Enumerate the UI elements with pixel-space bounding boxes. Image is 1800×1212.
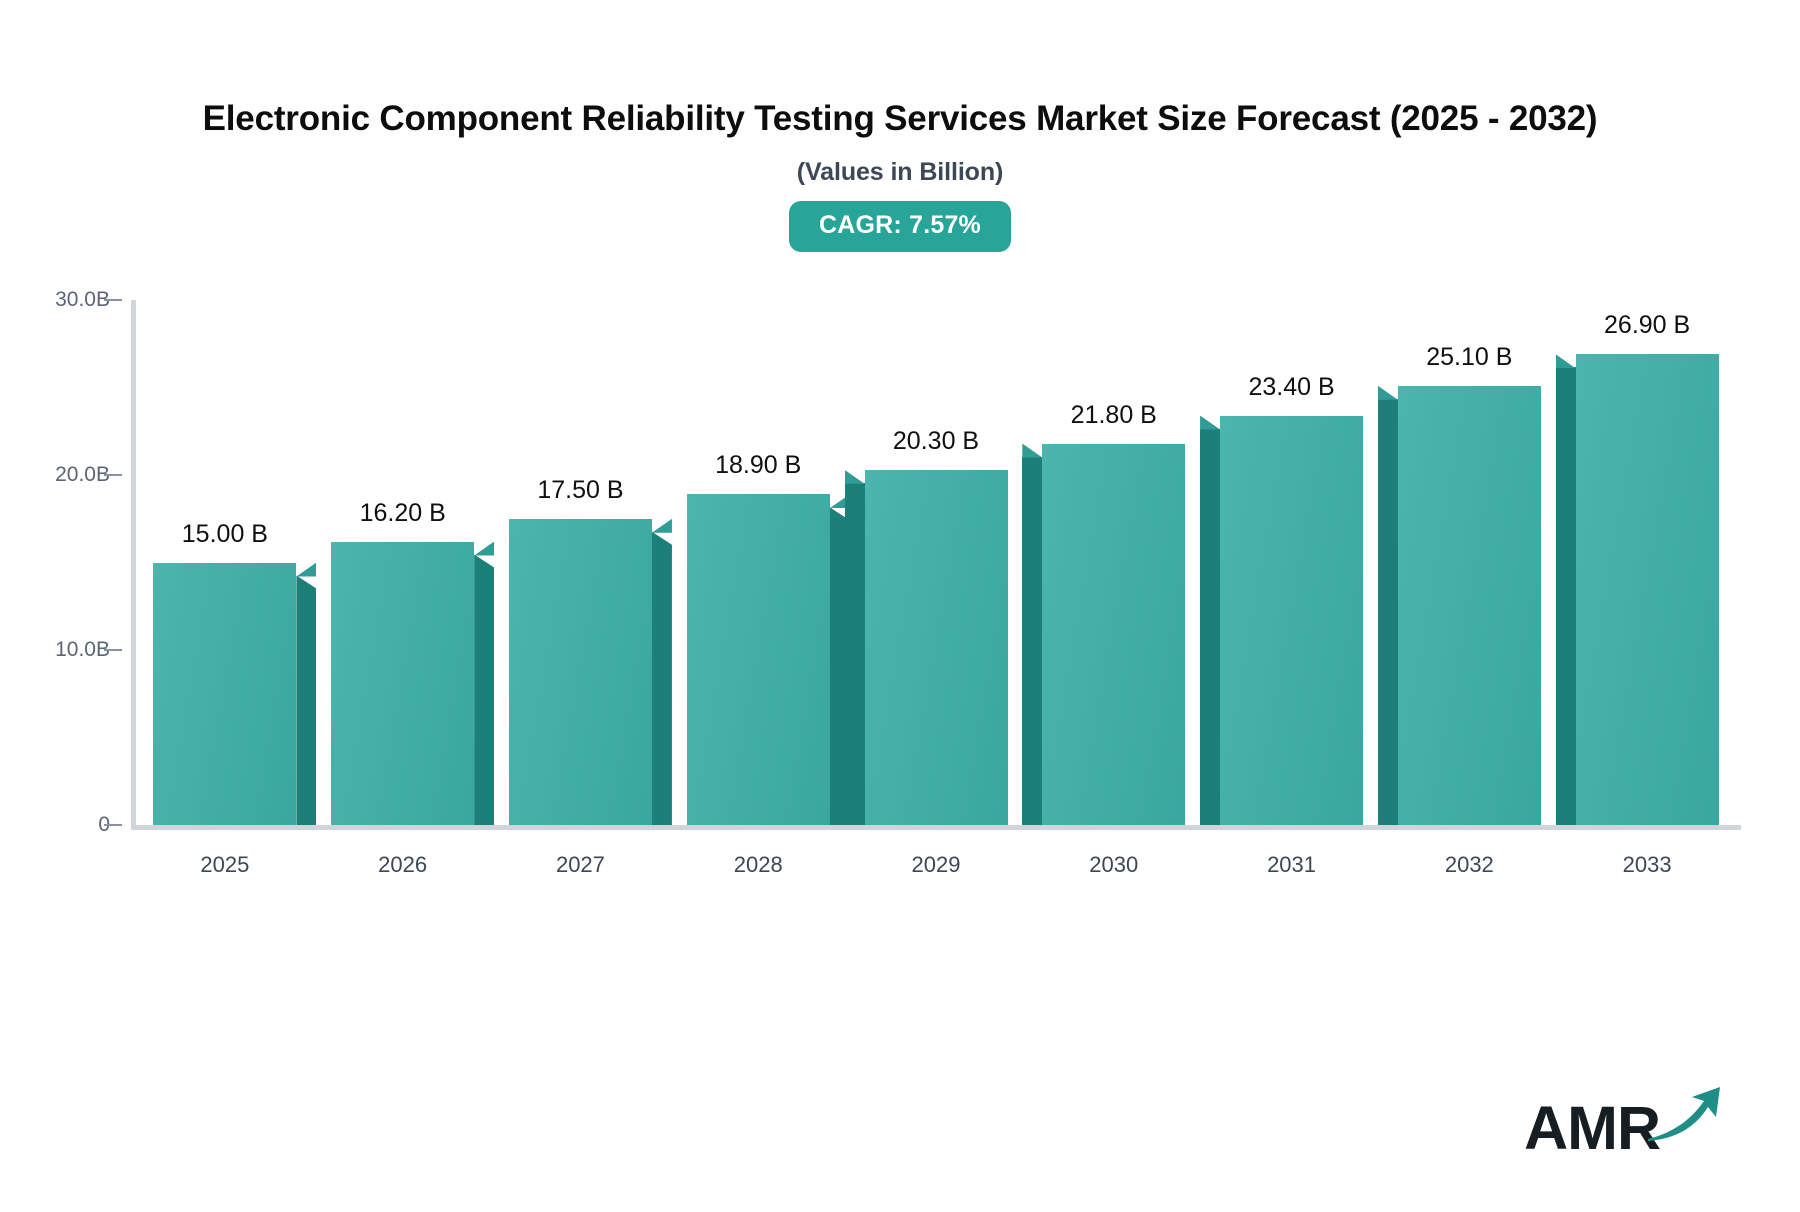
bar-front-face — [1220, 416, 1363, 826]
x-axis-tick-label: 2027 — [556, 852, 605, 878]
chart-header: Electronic Component Reliability Testing… — [150, 96, 1650, 252]
bar-side-face — [652, 532, 672, 825]
bar-group[interactable]: 17.50 B — [509, 300, 652, 825]
x-axis-tick-label: 2029 — [912, 852, 961, 878]
logo-text: AMR — [1524, 1100, 1660, 1156]
plot-area: 010.0B20.0B30.0B 15.00 B16.20 B17.50 B18… — [0, 300, 1800, 900]
bar-side-face — [1556, 367, 1576, 825]
bar-value-label: 15.00 B — [182, 520, 268, 549]
x-axis-tick-label: 2028 — [734, 852, 783, 878]
bar[interactable] — [1576, 354, 1719, 825]
bar-front-face — [153, 563, 296, 826]
bar-value-label: 21.80 B — [1071, 401, 1157, 430]
y-axis-tick-label: 10.0B — [0, 638, 110, 662]
bar-group[interactable]: 15.00 B — [153, 300, 296, 825]
bar-value-label: 16.20 B — [360, 499, 446, 528]
bar-side-face — [1378, 399, 1398, 825]
bar-front-face — [331, 542, 474, 826]
bar-top-face — [652, 519, 672, 533]
x-axis-tick-label: 2026 — [378, 852, 427, 878]
bar[interactable] — [1220, 416, 1363, 826]
bar-front-face — [865, 470, 1008, 825]
bar-group[interactable]: 21.80 B — [1042, 300, 1185, 825]
chart-subtitle: (Values in Billion) — [150, 158, 1650, 187]
bar-value-label: 25.10 B — [1426, 343, 1512, 372]
bar-top-face — [296, 563, 316, 577]
x-axis-tick-label: 2025 — [200, 852, 249, 878]
bar-side-face — [474, 555, 494, 826]
bar[interactable] — [153, 563, 296, 826]
bar-top-face — [845, 470, 865, 484]
bar[interactable] — [865, 470, 1008, 825]
y-axis-tick-label: 30.0B — [0, 288, 110, 312]
cagr-badge-wrap: CAGR: 7.57% — [150, 201, 1650, 252]
bar[interactable] — [687, 494, 830, 825]
bar-front-face — [1398, 386, 1541, 825]
bars-container: 15.00 B16.20 B17.50 B18.90 B20.30 B21.80… — [136, 300, 1736, 825]
bar-group[interactable]: 23.40 B — [1220, 300, 1363, 825]
bar[interactable] — [1398, 386, 1541, 825]
x-axis-tick-label: 2033 — [1623, 852, 1672, 878]
bar-top-face — [1022, 444, 1042, 458]
bar-side-face — [1022, 457, 1042, 826]
amr-logo: AMR — [1524, 1089, 1738, 1156]
bar[interactable] — [1042, 444, 1185, 826]
y-axis-tick-mark — [104, 299, 122, 301]
bar[interactable] — [331, 542, 474, 826]
bar-side-face — [296, 576, 316, 826]
x-axis-tick-label: 2030 — [1089, 852, 1138, 878]
y-axis-tick-label: 0 — [0, 813, 110, 837]
x-axis-tick-label: 2031 — [1267, 852, 1316, 878]
y-axis-tick-mark — [104, 474, 122, 476]
x-axis-line — [131, 825, 1741, 830]
bar-top-face — [1556, 354, 1576, 368]
bar-value-label: 26.90 B — [1604, 311, 1690, 340]
y-axis-tick-label: 20.0B — [0, 463, 110, 487]
bar-top-face — [474, 542, 494, 556]
status-badge: CAGR: 7.57% — [789, 201, 1011, 252]
bar-value-label: 17.50 B — [537, 476, 623, 505]
bar-top-face — [1200, 416, 1220, 430]
bar-front-face — [1576, 354, 1719, 825]
bar[interactable] — [509, 519, 652, 825]
bar-value-label: 18.90 B — [715, 451, 801, 480]
bar-front-face — [687, 494, 830, 825]
bar-side-face — [1200, 429, 1220, 826]
page-title: Electronic Component Reliability Testing… — [150, 96, 1650, 142]
bar-side-face — [845, 483, 865, 825]
x-axis-tick-label: 2032 — [1445, 852, 1494, 878]
bar-front-face — [1042, 444, 1185, 826]
y-axis-tick-mark — [104, 649, 122, 651]
bar-front-face — [509, 519, 652, 825]
chart-canvas: Electronic Component Reliability Testing… — [0, 0, 1800, 1212]
bar-group[interactable]: 20.30 B — [865, 300, 1008, 825]
growth-arrow-icon — [1646, 1083, 1724, 1150]
bar-group[interactable]: 25.10 B — [1398, 300, 1541, 825]
y-axis-tick-mark — [104, 824, 122, 826]
bar-value-label: 23.40 B — [1248, 373, 1334, 402]
bar-value-label: 20.30 B — [893, 427, 979, 456]
bar-group[interactable]: 26.90 B — [1576, 300, 1719, 825]
bar-top-face — [1378, 386, 1398, 400]
bar-group[interactable]: 18.90 B — [687, 300, 830, 825]
bar-group[interactable]: 16.20 B — [331, 300, 474, 825]
